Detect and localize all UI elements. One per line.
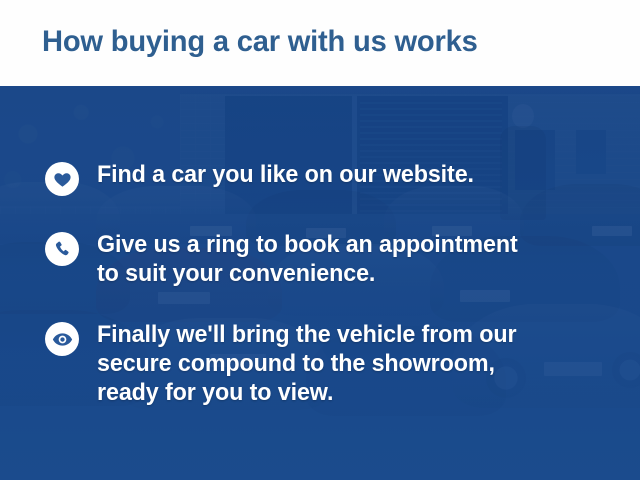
step-item-1: Find a car you like on our website.: [45, 160, 486, 196]
page-title: How buying a car with us works: [42, 25, 478, 59]
promo-slide: How buying a car with us works Find a ca…: [0, 0, 640, 480]
step-text-1: Find a car you like on our website.: [97, 160, 474, 189]
step-text-3: Finally we'll bring the vehicle from our…: [97, 320, 516, 407]
phone-icon: [45, 232, 79, 266]
steps-list: Find a car you like on our website. Give…: [0, 86, 640, 480]
step-item-2: Give us a ring to book an appointment to…: [45, 230, 531, 288]
eye-icon: [45, 322, 79, 356]
step-item-3: Finally we'll bring the vehicle from our…: [45, 320, 529, 407]
heart-icon: [45, 162, 79, 196]
header-band: How buying a car with us works: [0, 0, 640, 86]
step-text-2: Give us a ring to book an appointment to…: [97, 230, 518, 288]
